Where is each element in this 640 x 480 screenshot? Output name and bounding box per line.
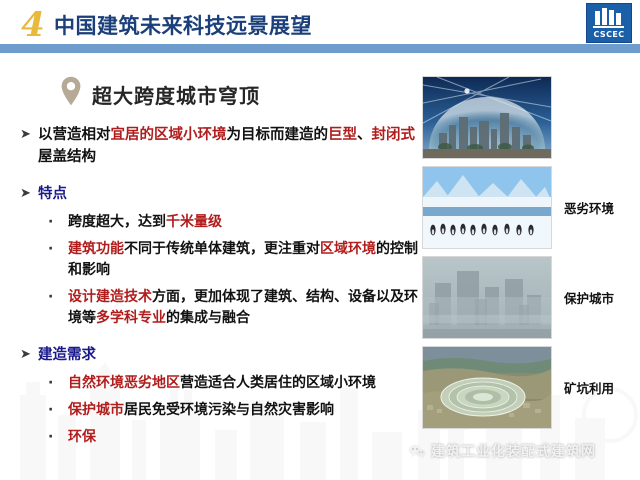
intro-seg-5: 封闭式: [372, 127, 416, 143]
intro-seg-4: 、: [357, 127, 372, 143]
intro-seg-3: 巨型: [328, 127, 357, 143]
f2-seg-0: 设计建造技术: [68, 289, 152, 305]
antarctic-penguins-graphic: [423, 167, 551, 248]
f2-seg-3: 的集成与融合: [166, 310, 250, 326]
antarctic-penguins-photo: [422, 166, 552, 249]
d0-seg-1: 营造适合人类居住的区域小环境: [180, 375, 376, 391]
site-watermark: 建筑工业化装配式建筑网: [408, 441, 596, 461]
section-heading: 超大跨度城市穹顶: [92, 80, 260, 109]
list-item: · 设计建造技术方面，更加体现了建筑、结构、设备以及环境等多学科专业的集成与融合: [18, 287, 418, 329]
group-heading-demand: ➤ 建造需求: [18, 344, 418, 366]
smoggy-city-graphic: [423, 257, 551, 338]
arrow-marker-icon: ➤: [20, 124, 31, 146]
bullet-dot-icon: ·: [48, 212, 53, 233]
page-title: 中国建筑未来科技远景展望: [54, 10, 312, 40]
d1-seg-1: 居民免受环境污染与自然灾害影响: [124, 402, 334, 418]
list-item: · 环保: [18, 427, 418, 448]
bullet-dot-icon: ·: [48, 287, 53, 308]
intro-seg-2: 为目标而建造的: [227, 127, 329, 143]
slide-number: 4: [16, 5, 50, 45]
mine-pit-structure-photo: [422, 346, 552, 429]
list-item: · 跨度超大，达到千米量级: [18, 212, 418, 233]
f1-seg-2: 区域环境: [320, 241, 376, 257]
image-caption: 恶劣环境: [564, 198, 614, 217]
mine-pit-graphic: [423, 347, 551, 428]
bullet-dot-icon: ·: [48, 239, 53, 260]
f0-seg-1: 千米量级: [166, 214, 222, 230]
intro-seg-0: 以营造相对: [38, 127, 111, 143]
arrow-marker-icon: ➤: [20, 344, 31, 366]
feature-item-2-text: 设计建造技术方面，更加体现了建筑、结构、设备以及环境等多学科专业的集成与融合: [68, 289, 418, 326]
demand-item-2-text: 环保: [68, 429, 96, 445]
slide-header: 4 中国建筑未来科技远景展望 CSCEC: [0, 0, 640, 54]
content-body: ➤ 以营造相对宜居的区域小环境为目标而建造的巨型、封闭式屋盖结构 ➤ 特点 · …: [18, 124, 418, 448]
f2-seg-2: 多学科专业: [96, 310, 166, 326]
group-heading-features: ➤ 特点: [18, 183, 418, 205]
image-row: [422, 76, 636, 159]
image-caption: 矿坑利用: [564, 378, 614, 397]
group-features-title: 特点: [38, 186, 67, 202]
header-rule: [0, 44, 640, 53]
intro-bullet: ➤ 以营造相对宜居的区域小环境为目标而建造的巨型、封闭式屋盖结构: [18, 124, 418, 168]
image-caption: 保护城市: [564, 288, 614, 307]
location-pin-icon: [60, 76, 82, 106]
demand-item-0-text: 自然环境恶劣地区营造适合人类居住的区域小环境: [68, 375, 376, 391]
image-row: 保护城市: [422, 256, 636, 339]
intro-text: 以营造相对宜居的区域小环境为目标而建造的巨型、封闭式屋盖结构: [38, 127, 415, 165]
svg-text:CSCEC: CSCEC: [594, 30, 625, 39]
image-row: 矿坑利用: [422, 346, 636, 429]
bullet-dot-icon: ·: [48, 427, 53, 448]
image-row: 恶劣环境: [422, 166, 636, 249]
cscec-logo-icon: CSCEC: [587, 4, 631, 42]
d0-seg-0: 自然环境恶劣地区: [68, 375, 180, 391]
feature-item-0-text: 跨度超大，达到千米量级: [68, 214, 222, 230]
group-demand-title: 建造需求: [38, 347, 96, 363]
f1-seg-1: 不同于传统单体建筑，更注重对: [124, 241, 320, 257]
watermark-label: 建筑工业化装配式建筑网: [431, 441, 596, 461]
feature-item-1-text: 建筑功能不同于传统单体建筑，更注重对区域环境的控制和影响: [68, 241, 418, 278]
list-item: · 自然环境恶劣地区营造适合人类居住的区域小环境: [18, 373, 418, 394]
list-item: · 保护城市居民免受环境污染与自然灾害影响: [18, 400, 418, 421]
f1-seg-0: 建筑功能: [68, 241, 124, 257]
intro-seg-1: 宜居的区域小环境: [111, 127, 227, 143]
arrow-marker-icon: ➤: [20, 183, 31, 205]
smoggy-city-photo: [422, 256, 552, 339]
bullet-dot-icon: ·: [48, 400, 53, 421]
d1-seg-0: 保护城市: [68, 402, 124, 418]
list-item: · 建筑功能不同于传统单体建筑，更注重对区域环境的控制和影响: [18, 239, 418, 281]
intro-seg-6: 屋盖结构: [38, 149, 96, 165]
slide-canvas: 4 中国建筑未来科技远景展望 CSCEC 超大跨度城市穹顶 ➤: [0, 0, 640, 480]
image-column: 恶劣环境: [422, 76, 636, 436]
cscec-logo: CSCEC: [586, 3, 632, 43]
bullet-dot-icon: ·: [48, 373, 53, 394]
demand-item-1-text: 保护城市居民免受环境污染与自然灾害影响: [68, 402, 334, 418]
f0-seg-0: 跨度超大，达到: [68, 214, 166, 230]
domed-city-graphic: [423, 77, 551, 158]
domed-city-photo: [422, 76, 552, 159]
